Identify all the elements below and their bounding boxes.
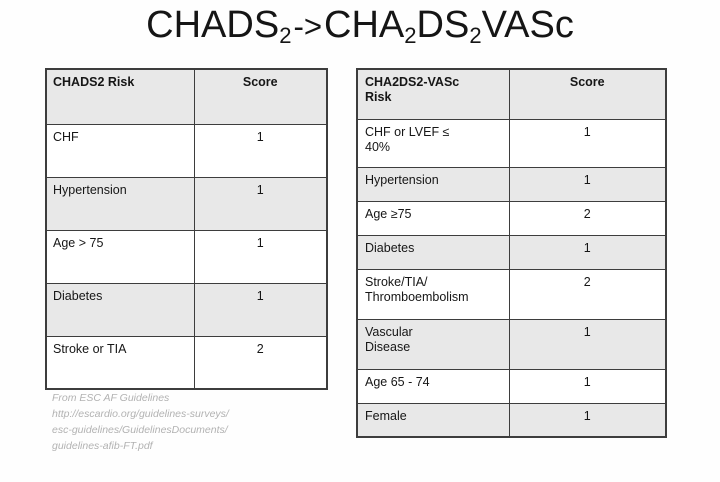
chads2-score-cell: 1 (194, 177, 327, 230)
chads2-score-cell: 2 (194, 336, 327, 389)
table-row: Vascular Disease 1 (357, 319, 666, 369)
chads2-risk-cell: Stroke or TIA (46, 336, 194, 389)
vasc-score-cell: 1 (509, 403, 666, 437)
table-row: Stroke/TIA/ Thromboembolism 2 (357, 269, 666, 319)
vasc-risk-cell-line1: Stroke/TIA/ (365, 275, 428, 289)
vasc-risk-cell-line1: CHF or LVEF ≤ (365, 125, 449, 139)
chads2-risk-column-header: CHADS2 Risk (46, 69, 194, 124)
chads2-score-cell: 1 (194, 283, 327, 336)
title-ds-subscript: 2 (469, 23, 481, 48)
vasc-score-cell: 1 (509, 369, 666, 403)
citation-line-2: http://escardio.org/guidelines-surveys/ (52, 407, 332, 423)
chads2-score-column-header: Score (194, 69, 327, 124)
title-chads-subscript: 2 (279, 23, 291, 48)
table-row: Age ≥75 2 (357, 201, 666, 235)
title-chads-text: CHADS (146, 4, 279, 46)
vasc-risk-cell: Diabetes (357, 235, 509, 269)
chads2-risk-table: CHADS2 Risk Score CHF 1 Hypertension 1 A… (45, 68, 328, 390)
table-row: Female 1 (357, 403, 666, 437)
vasc-risk-cell: Age ≥75 (357, 201, 509, 235)
source-citation: From ESC AF Guidelines http://escardio.o… (52, 391, 332, 455)
vasc-risk-cell-line2: Disease (365, 340, 410, 354)
title-ds-text: DS (417, 4, 470, 46)
chads2-score-cell: 1 (194, 230, 327, 283)
title-vasc-text: VASc (482, 4, 574, 46)
chads2-risk-cell: CHF (46, 124, 194, 177)
table-row: Age > 75 1 (46, 230, 327, 283)
title-arrow: -> (291, 9, 324, 44)
vasc-risk-cell: Female (357, 403, 509, 437)
chads2-score-cell: 1 (194, 124, 327, 177)
vasc-score-column-header: Score (509, 69, 666, 119)
title-cha-text: CHA (324, 4, 404, 46)
vasc-risk-column-header-line1: CHA2DS2-VASc (365, 75, 459, 89)
slide-canvas: CHADS2->CHA2DS2VASc CHADS2 Risk Score CH… (0, 0, 720, 482)
chads2-risk-cell: Hypertension (46, 177, 194, 230)
vasc-score-cell: 2 (509, 201, 666, 235)
table-header-row: CHA2DS2-VASc Risk Score (357, 69, 666, 119)
table-row: CHF or LVEF ≤ 40% 1 (357, 119, 666, 167)
table-row: Hypertension 1 (357, 167, 666, 201)
table-row: Age 65 - 74 1 (357, 369, 666, 403)
table-row: Diabetes 1 (46, 283, 327, 336)
vasc-score-cell: 1 (509, 235, 666, 269)
title-cha-subscript: 2 (404, 23, 416, 48)
chads2-risk-cell: Age > 75 (46, 230, 194, 283)
table-row: Stroke or TIA 2 (46, 336, 327, 389)
vasc-score-cell: 1 (509, 167, 666, 201)
vasc-risk-column-header: CHA2DS2-VASc Risk (357, 69, 509, 119)
vasc-risk-cell: Stroke/TIA/ Thromboembolism (357, 269, 509, 319)
vasc-score-cell: 2 (509, 269, 666, 319)
table-header-row: CHADS2 Risk Score (46, 69, 327, 124)
vasc-risk-cell: CHF or LVEF ≤ 40% (357, 119, 509, 167)
page-title: CHADS2->CHA2DS2VASc (0, 4, 720, 47)
cha2ds2-vasc-risk-table: CHA2DS2-VASc Risk Score CHF or LVEF ≤ 40… (356, 68, 667, 438)
vasc-risk-cell: Vascular Disease (357, 319, 509, 369)
citation-line-4: guidelines-afib-FT.pdf (52, 439, 332, 455)
table-row: CHF 1 (46, 124, 327, 177)
vasc-score-cell: 1 (509, 119, 666, 167)
vasc-risk-cell-line1: Vascular (365, 325, 413, 339)
vasc-risk-cell: Age 65 - 74 (357, 369, 509, 403)
table-row: Hypertension 1 (46, 177, 327, 230)
vasc-score-cell: 1 (509, 319, 666, 369)
table-row: Diabetes 1 (357, 235, 666, 269)
citation-line-1: From ESC AF Guidelines (52, 391, 332, 407)
vasc-risk-cell: Hypertension (357, 167, 509, 201)
vasc-risk-cell-line2: Thromboembolism (365, 290, 469, 304)
vasc-risk-column-header-line2: Risk (365, 90, 391, 104)
citation-line-3: esc-guidelines/GuidelinesDocuments/ (52, 423, 332, 439)
vasc-risk-cell-line2: 40% (365, 140, 390, 154)
chads2-risk-cell: Diabetes (46, 283, 194, 336)
